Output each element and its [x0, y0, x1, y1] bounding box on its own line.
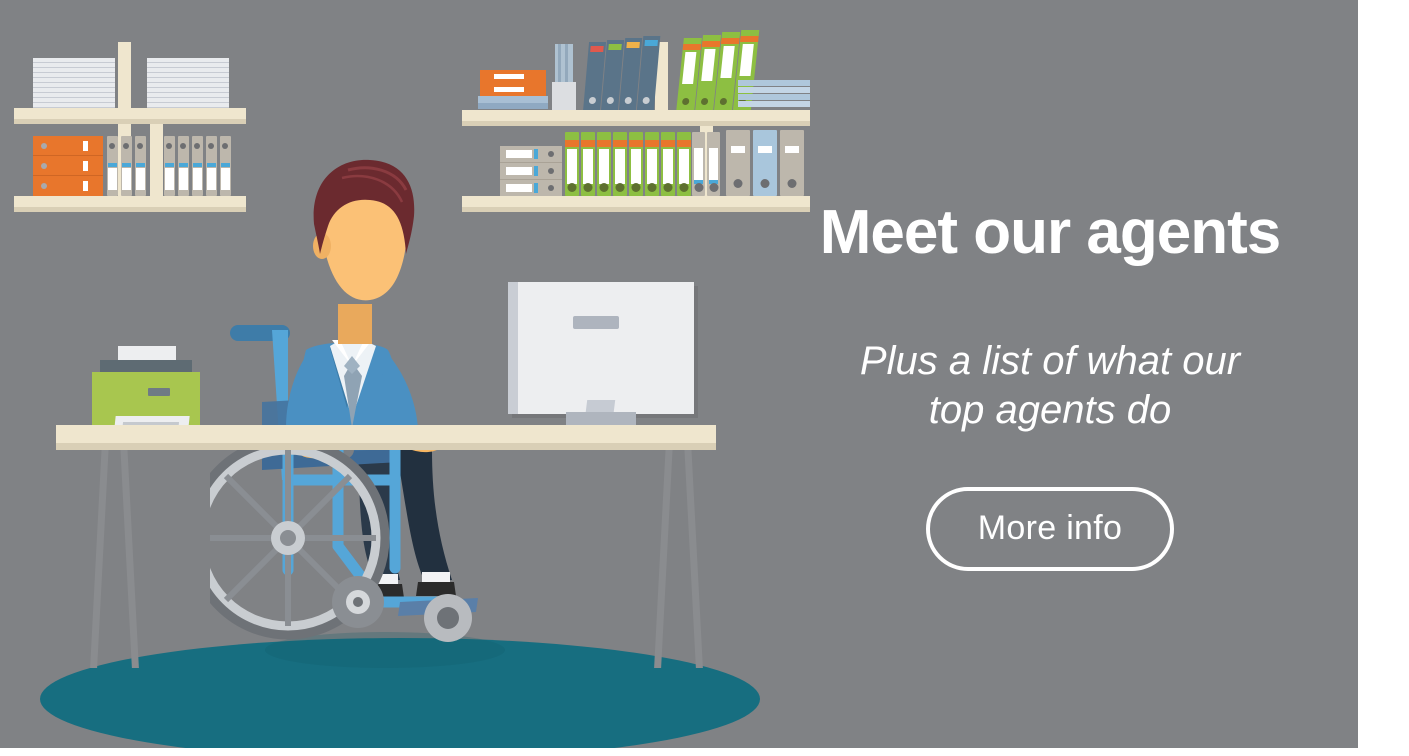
green-binder-row — [565, 132, 691, 196]
desk-leg-2 — [120, 443, 139, 668]
desk-top — [56, 425, 716, 443]
monitor-stand-base — [566, 412, 636, 426]
desk-top-shadow — [56, 443, 716, 450]
text-panel: Meet our agents Plus a list of what our … — [760, 200, 1340, 571]
monitor-edge — [508, 282, 518, 414]
more-info-button[interactable]: More info — [926, 487, 1174, 571]
page-title: Meet our agents — [760, 200, 1340, 265]
orange-drawer-unit — [33, 136, 103, 196]
promo-banner: Meet our agents Plus a list of what our … — [0, 0, 1358, 748]
subtitle: Plus a list of what our top agents do — [760, 337, 1340, 435]
printer-control-slot — [148, 388, 170, 396]
desk-leg-4 — [684, 443, 703, 668]
subtitle-line-2: top agents do — [929, 388, 1171, 432]
shelf-board-upper-right — [462, 110, 810, 121]
pencil-cup — [552, 44, 576, 110]
subtitle-line-1: Plus a list of what our — [860, 339, 1240, 383]
shelf-board-upper-left — [14, 108, 246, 119]
gray-binder-pair — [692, 132, 722, 196]
shelf-board-upper-left-shadow — [14, 119, 246, 124]
monitor-badge — [573, 316, 619, 329]
office-illustration — [0, 0, 820, 748]
blue-gray-file-group — [586, 36, 662, 112]
shelf-board-upper-right-shadow — [462, 121, 810, 126]
wide-binder-group — [726, 130, 808, 196]
binder-group-left-a — [107, 136, 147, 196]
paper-stack-right — [147, 58, 229, 108]
paper-stack-left — [33, 58, 115, 108]
businessman-in-wheelchair — [210, 150, 540, 670]
blue-paper-stack — [738, 80, 810, 112]
desk-leg-1 — [90, 443, 109, 668]
monitor-back-panel — [508, 282, 694, 414]
orange-book-stack — [478, 70, 548, 110]
desk-leg-3 — [654, 443, 673, 668]
cta-wrapper: More info — [760, 487, 1340, 571]
person-svg — [210, 150, 540, 670]
